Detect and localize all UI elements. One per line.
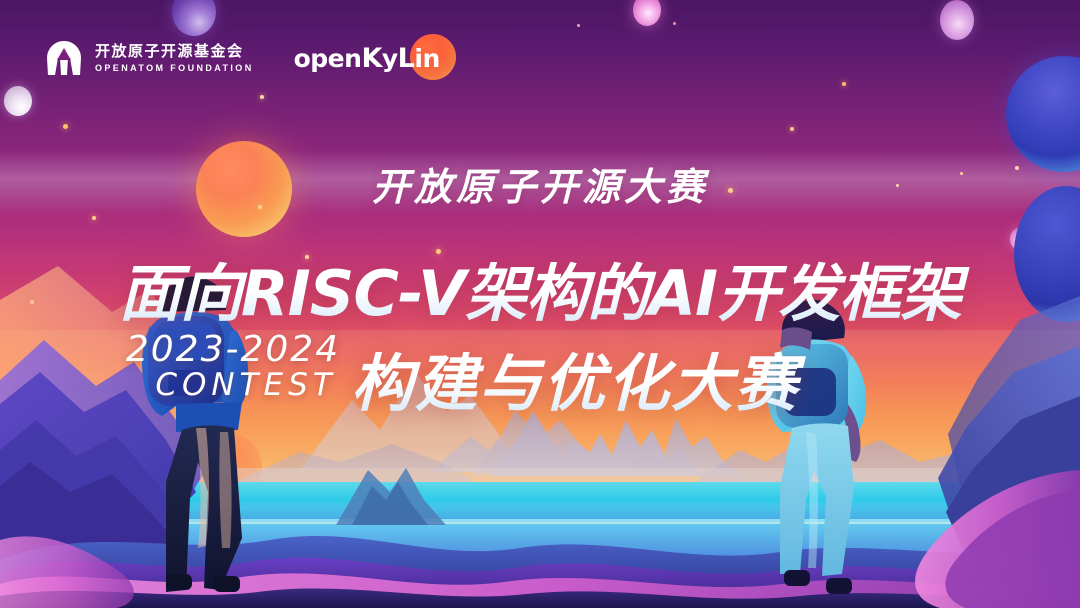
kylin-l: L (398, 43, 415, 74)
kylin-in: in (414, 44, 439, 73)
eyebrow-title: 开放原子开源大赛 (0, 156, 1080, 211)
openkylin-logo[interactable]: openKyLin (294, 36, 440, 80)
headline-block: 开放原子开源大赛 面向RISC-V架构的AI开发框架 构建与优化大赛 2023-… (0, 0, 1080, 608)
kylin-y: y (382, 44, 398, 73)
event-poster: 开放原子开源基金会 OPENATOM FOUNDATION openKyLin … (0, 0, 1080, 608)
main-title-line-1: 面向RISC-V架构的AI开发框架 (0, 243, 1080, 333)
openkylin-wordmark: openKyLin (294, 43, 440, 74)
contest-word: CONTEST (118, 369, 348, 402)
kylin-k: K (361, 43, 381, 74)
kylin-open: open (294, 44, 362, 73)
contest-years: 2023-2024 (118, 331, 348, 369)
contest-year-block: 2023-2024 CONTEST (118, 331, 348, 401)
